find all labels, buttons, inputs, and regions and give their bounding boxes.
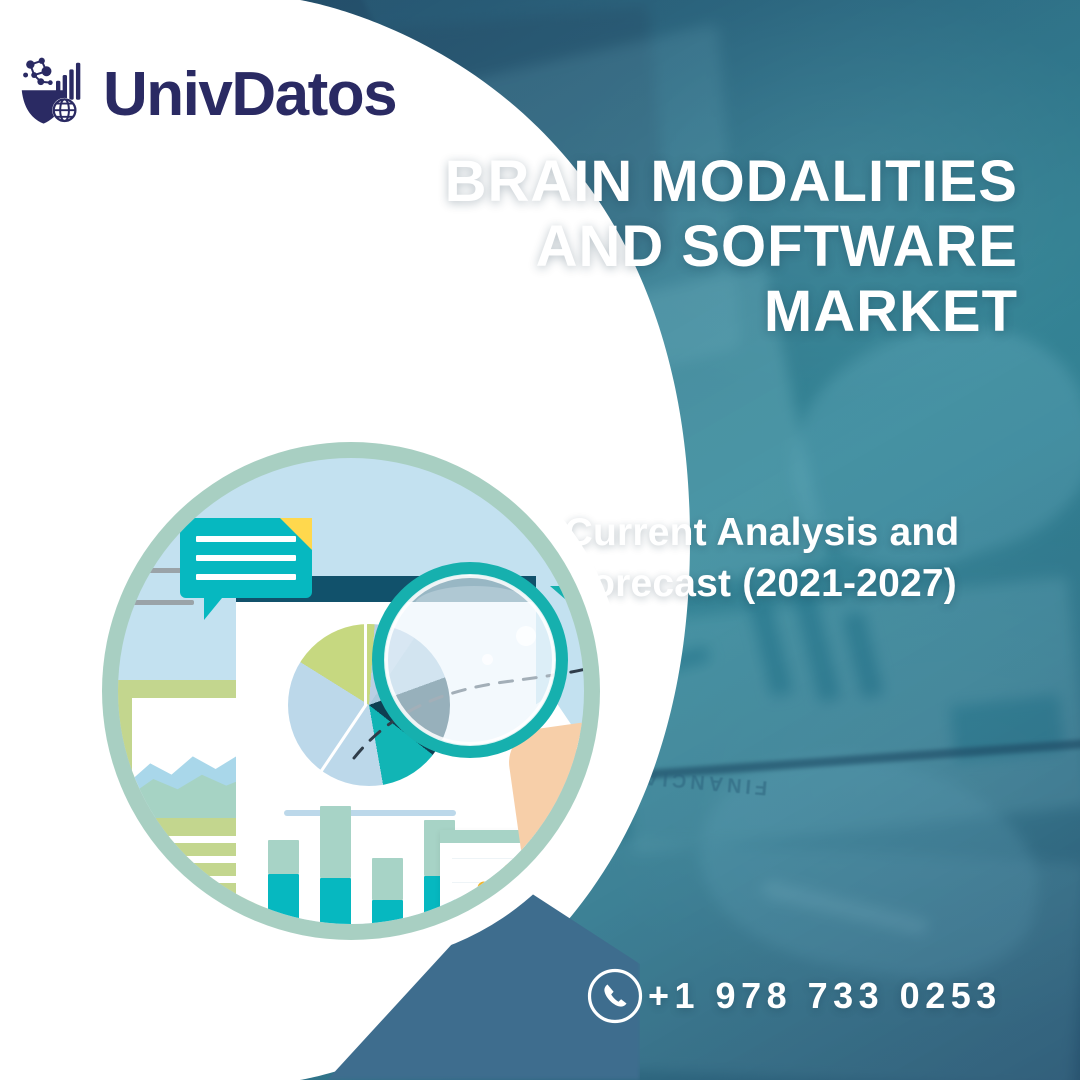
note-card-line-3: [196, 574, 296, 580]
note-card-line-2: [196, 555, 296, 561]
badge-inner-circle: [118, 458, 584, 924]
analytics-illustration-badge: [78, 418, 624, 964]
magnifier-glare-2: [482, 654, 493, 665]
univdatos-bars-globe-icon: [18, 56, 94, 134]
note-card-line-1: [196, 536, 296, 542]
magnifying-glass-inner-ring: [384, 574, 556, 746]
page-title: BRAIN MODALITIES AND SOFTWARE MARKET: [378, 150, 1018, 345]
contact-phone-row[interactable]: +1 978 733 0253: [586, 967, 1002, 1025]
brand-name: UnivDatos: [103, 64, 396, 126]
poster-canvas: FINANCIA: [0, 0, 1080, 1080]
phone-number: +1 978 733 0253: [648, 975, 1002, 1017]
magnifier-glare-1: [516, 626, 536, 646]
note-card-tail: [204, 598, 222, 620]
brand-logo[interactable]: UnivDatos: [18, 56, 396, 134]
phone-circle-icon: [586, 967, 644, 1025]
